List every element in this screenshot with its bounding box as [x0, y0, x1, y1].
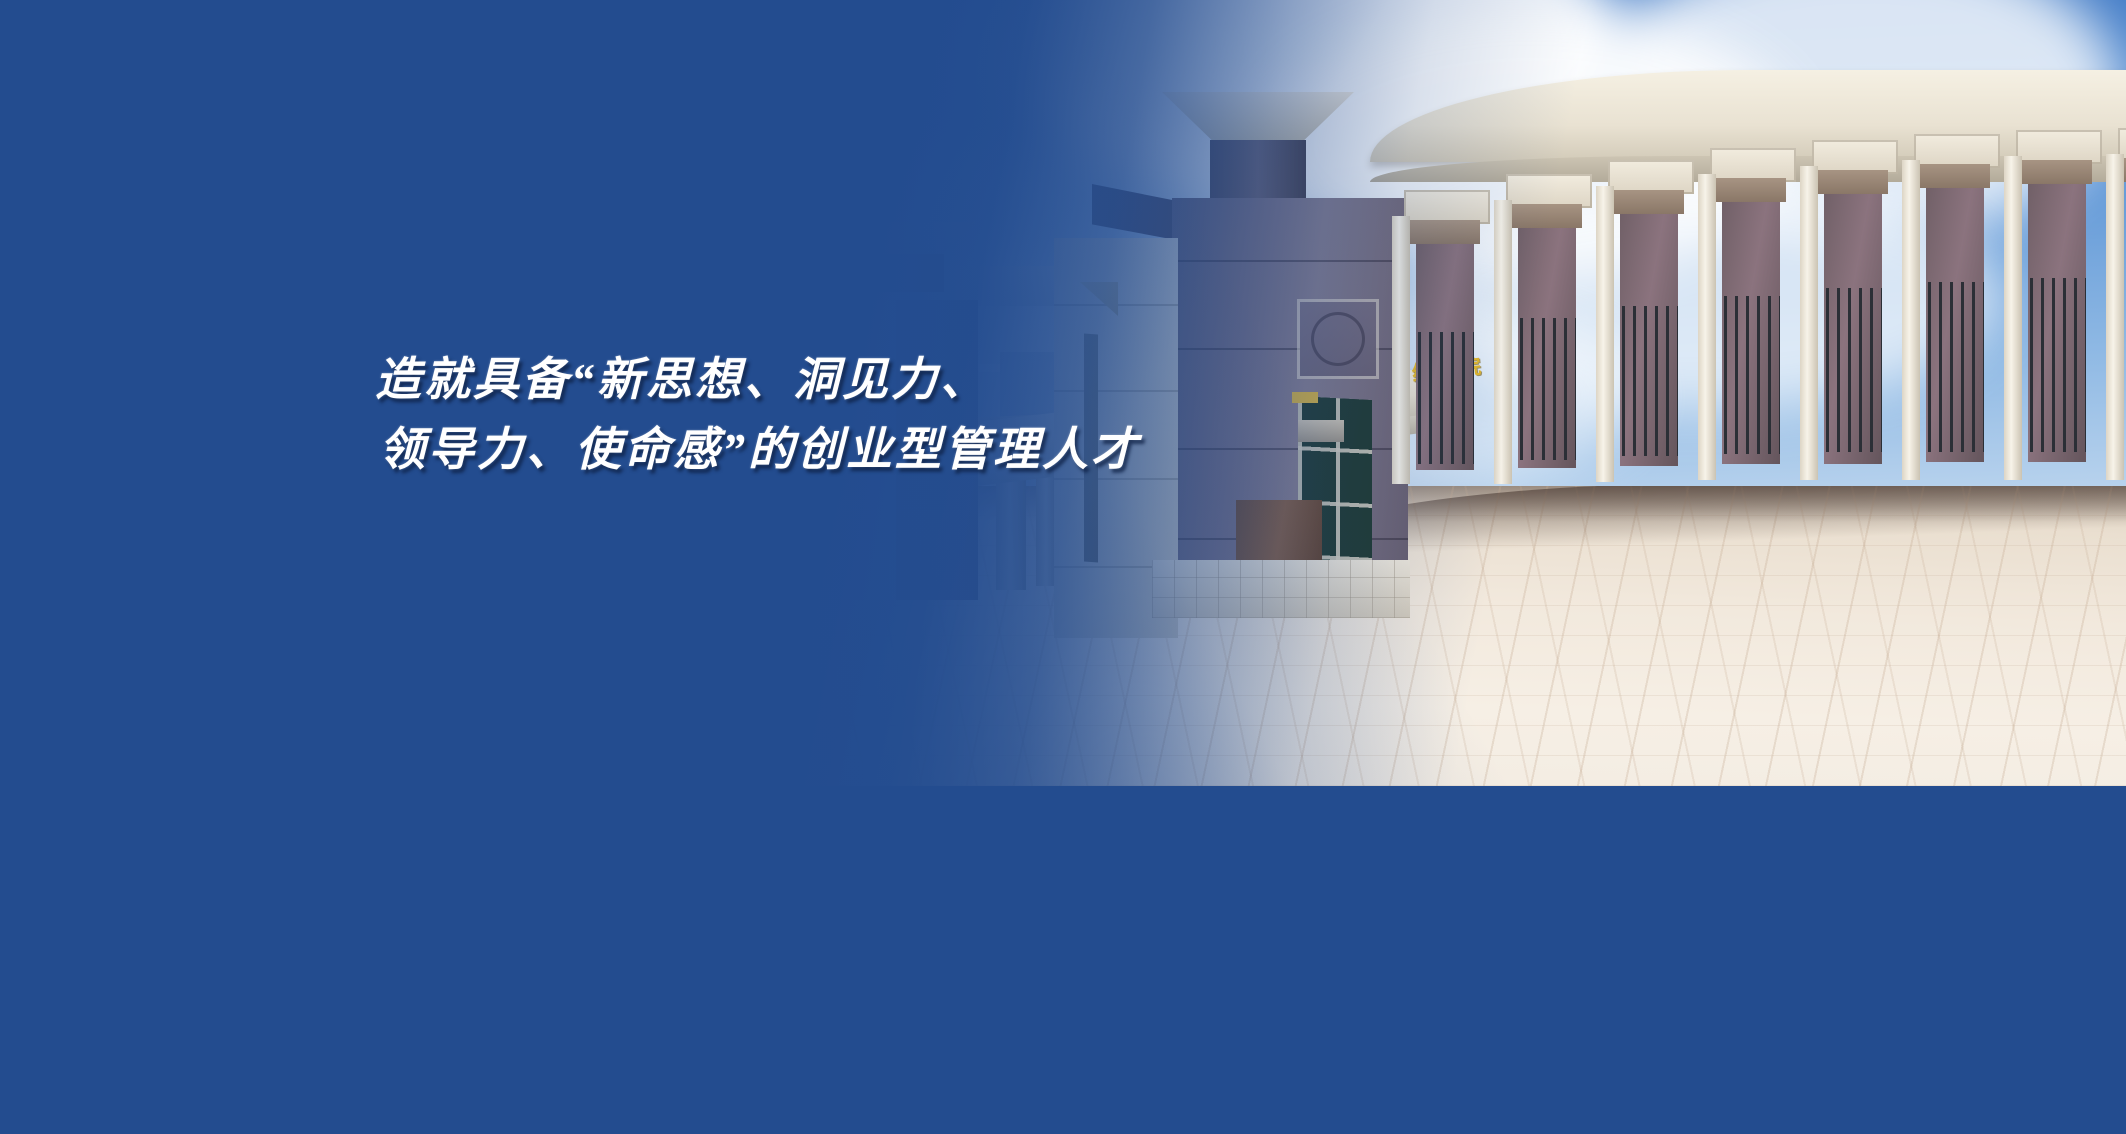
bay-pier	[1698, 174, 1716, 480]
bay-lintel-panel	[1404, 190, 1490, 224]
bay-lintel-panel	[1608, 160, 1694, 194]
bay-lintel-panel	[1914, 134, 2000, 168]
bay-capital	[1716, 178, 1786, 202]
bay-capital	[2022, 160, 2092, 184]
bay-capital	[1410, 220, 1480, 244]
bay-fence-top	[2030, 278, 2086, 290]
gate-plinth	[1152, 560, 1410, 618]
pylon-triangle-ornament	[1080, 282, 1118, 316]
banner-headline: 造就具备“新思想、洞见力、 领导力、使命感”的创业型管理人才	[375, 345, 1355, 485]
bay-pier	[1902, 160, 1920, 480]
bay-fence-top	[1520, 318, 1576, 330]
bay-fence-top	[1928, 282, 1984, 294]
bay-capital	[1920, 164, 1990, 188]
gate-bowl-base-right	[1210, 140, 1306, 198]
bay-pier	[1596, 186, 1614, 482]
bay-pier	[1494, 200, 1512, 484]
gate-bowl-finial-left	[846, 222, 976, 256]
headline-line-1: 造就具备“新思想、洞见力、	[375, 345, 1355, 415]
bay-fence-top	[1724, 296, 1780, 308]
headline-line-2: 领导力、使命感”的创业型管理人才	[379, 415, 1355, 485]
bay-fence	[1724, 308, 1780, 454]
bay-fence-top	[1622, 306, 1678, 318]
bay-lintel-panel	[2016, 130, 2102, 164]
bay-fence	[1622, 318, 1678, 456]
plinth-tiles	[1152, 560, 1410, 618]
pylon-seam	[1172, 260, 1408, 262]
gate-bowl-base-left	[878, 254, 944, 292]
bay-capital	[1512, 204, 1582, 228]
bay-capital	[1614, 190, 1684, 214]
bay-lintel-panel	[1710, 148, 1796, 182]
bay-fence	[1520, 330, 1576, 460]
bay-pier	[2106, 154, 2124, 480]
bay-capital	[1818, 170, 1888, 194]
bay-lintel-panel	[1812, 140, 1898, 174]
bay-fence	[1418, 344, 1474, 464]
bay-pier	[2004, 156, 2022, 480]
bay-pier	[1392, 216, 1410, 484]
bay-fence-top	[1418, 332, 1474, 344]
bay-lintel-panel	[1506, 174, 1592, 208]
bay-pier	[1800, 166, 1818, 480]
bay-fence	[2030, 290, 2086, 452]
bay-fence	[1928, 294, 1984, 452]
gate-bowl-finial-right	[1162, 92, 1354, 144]
gate-fin-right	[1092, 184, 1176, 240]
curved-colonnade	[1390, 70, 2126, 630]
hero-banner: 宁波财经学院	[0, 0, 2126, 1134]
bay-fence	[1826, 300, 1882, 452]
bay-fence-top	[1826, 288, 1882, 300]
